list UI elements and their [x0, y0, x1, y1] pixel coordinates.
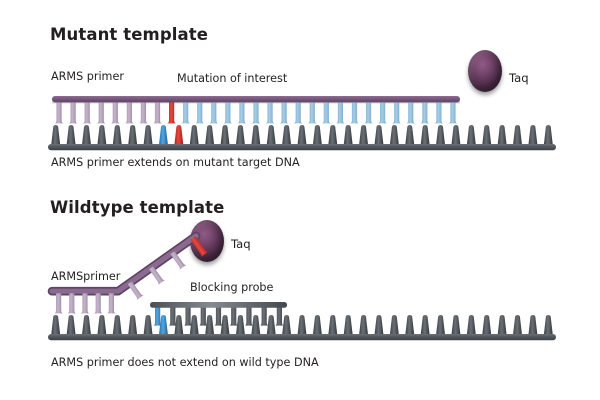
caption-wildtype: ARMS primer does not extend on wild type… [51, 356, 319, 369]
figure-canvas: Mutant template ARMS primer Mutation of … [0, 0, 600, 400]
wildtype-strands [0, 0, 600, 400]
